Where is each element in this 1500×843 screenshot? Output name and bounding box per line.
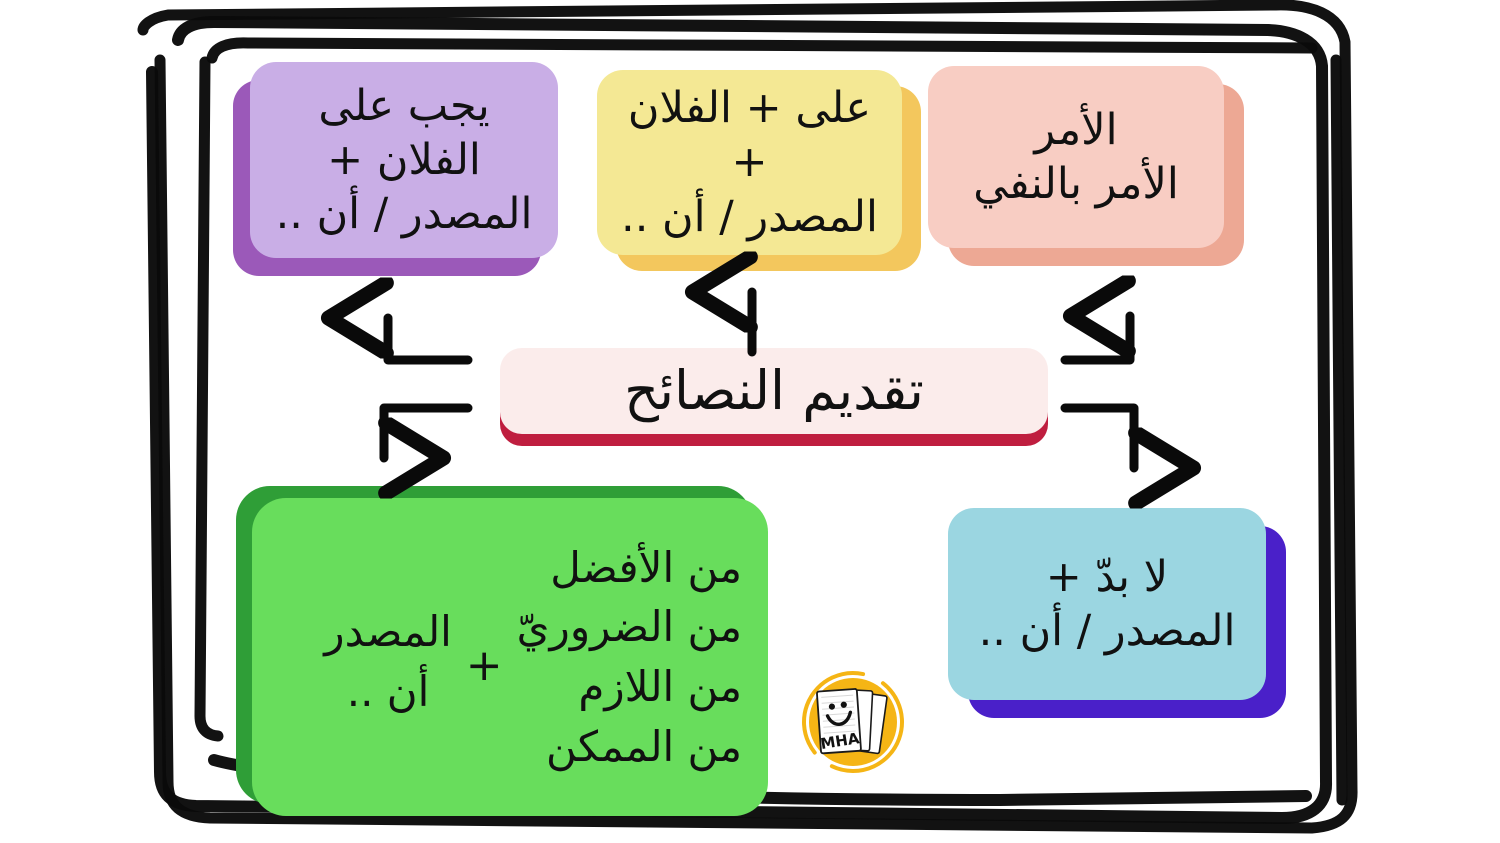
node-recommend-complement: المصدر أن .. — [324, 602, 452, 721]
node-command[interactable]: الأمر الأمر بالنفي — [928, 66, 1224, 248]
node-ala-fulan[interactable]: على + الفلان + المصدر / أن .. — [597, 70, 902, 255]
node-obligation-ala[interactable]: يجب على الفلان + المصدر / أن .. — [250, 62, 558, 258]
node-necessity-label: لا بدّ + المصدر / أن .. — [979, 550, 1236, 658]
node-command-label: الأمر الأمر بالنفي — [973, 103, 1179, 211]
center-title[interactable]: تقديم النصائح — [500, 348, 1048, 434]
node-recommend-content: من الأفضل من الضروريّ من اللازم من الممك… — [252, 498, 768, 816]
arrow-left-up — [388, 318, 468, 360]
center-title-label: تقديم النصائح — [624, 357, 924, 425]
node-recommend-options: من الأفضل من الضروريّ من اللازم من الممك… — [517, 538, 742, 777]
arrow-right-up — [1065, 316, 1130, 360]
logo-watermark: MHA — [797, 666, 909, 778]
node-necessity[interactable]: لا بدّ + المصدر / أن .. — [948, 508, 1266, 700]
diagram-canvas: يجب على الفلان + المصدر / أن .. على + ال… — [0, 0, 1500, 843]
node-obligation-ala-label: يجب على الفلان + المصدر / أن .. — [276, 79, 533, 242]
arrow-left-down — [384, 408, 468, 458]
node-recommend-plus: + — [452, 638, 517, 693]
node-ala-fulan-label: على + الفلان + المصدر / أن .. — [611, 81, 888, 244]
node-recommend[interactable]: من الأفضل من الضروريّ من اللازم من الممك… — [252, 498, 768, 816]
arrow-right-down — [1065, 408, 1134, 468]
